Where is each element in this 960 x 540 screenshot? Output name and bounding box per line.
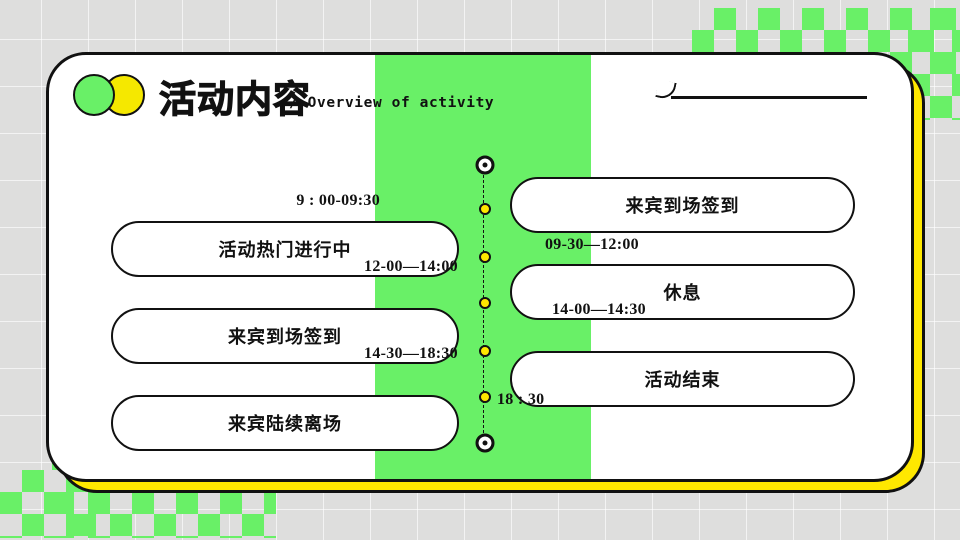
agenda-time-label: 12-00—14:00 <box>364 258 458 276</box>
timeline-spine <box>483 165 485 443</box>
timeline-node-1[interactable] <box>479 203 491 215</box>
agenda-pill-label: 来宾陆续离场 <box>228 410 342 436</box>
agenda-pill[interactable]: 活动结束 <box>510 351 855 407</box>
slide-canvas: 活动内容 / Overview of activity 来宾到场签到 9 : 0… <box>0 0 960 540</box>
content-card: 活动内容 / Overview of activity 来宾到场签到 9 : 0… <box>46 52 914 482</box>
agenda-pill[interactable]: 来宾陆续离场 <box>111 395 459 451</box>
agenda-time-label: 9 : 00-09:30 <box>296 192 380 210</box>
slide-header: 活动内容 / Overview of activity <box>49 55 911 125</box>
agenda-time-label: 14-30—18:30 <box>364 345 458 363</box>
green-circle-icon <box>73 74 115 116</box>
timeline-node-end <box>475 434 494 453</box>
agenda-time-label: 09-30—12:00 <box>545 236 639 254</box>
agenda-pill-label: 活动热门进行中 <box>219 236 352 262</box>
agenda-pill[interactable]: 来宾到场签到 <box>510 177 855 233</box>
agenda-pill-label: 来宾到场签到 <box>228 323 342 349</box>
timeline-node-2[interactable] <box>479 251 491 263</box>
timeline-node-4[interactable] <box>479 345 491 357</box>
logo-dots <box>73 74 151 116</box>
timeline-node-3[interactable] <box>479 297 491 309</box>
agenda-pill-label: 来宾到场签到 <box>626 192 740 218</box>
page-subtitle: / Overview of activity <box>289 95 494 111</box>
agenda-pill-label: 休息 <box>664 279 702 305</box>
header-rule-divider <box>671 96 867 99</box>
agenda-pill-label: 活动结束 <box>645 366 721 392</box>
timeline-node-5[interactable] <box>479 391 491 403</box>
agenda-time-label: 18 : 30 <box>497 391 544 409</box>
timeline-node-start <box>475 156 494 175</box>
agenda-time-label: 14-00—14:30 <box>552 301 646 319</box>
